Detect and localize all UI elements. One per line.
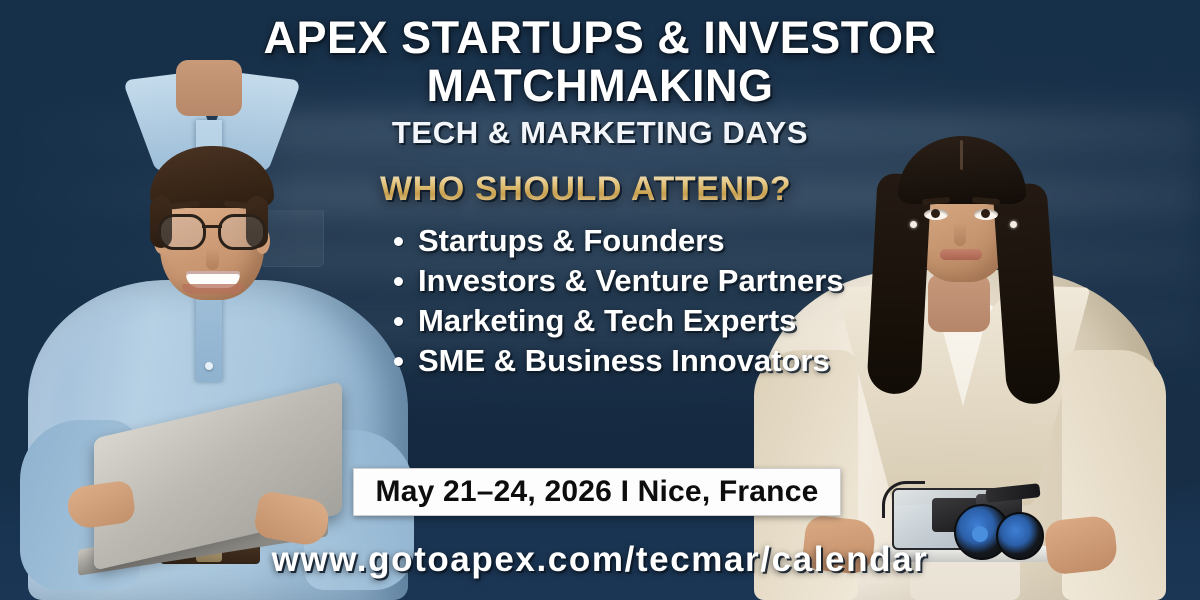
man-eyeglasses — [156, 214, 268, 244]
date-location-banner: May 21–24, 2026 I Nice, France — [353, 468, 841, 516]
woman-hair-part — [960, 140, 963, 170]
list-item: SME & Business Innovators — [380, 341, 844, 381]
list-item: Startups & Founders — [380, 221, 844, 261]
event-url[interactable]: www.gotoapex.com/tecmar/calendar — [0, 540, 1200, 580]
bullet-icon — [394, 357, 403, 366]
attendee-label: Investors & Venture Partners — [418, 261, 844, 301]
woman-earring-right — [1010, 221, 1017, 228]
man-lens-left — [158, 214, 206, 250]
date-location-text: May 21–24, 2026 I Nice, France — [376, 475, 819, 509]
man-glasses-bridge — [202, 225, 222, 228]
bullet-icon — [394, 237, 403, 246]
list-item: Investors & Venture Partners — [380, 261, 844, 301]
woman-nose — [954, 222, 966, 246]
woman-hair-left — [866, 173, 931, 396]
man-lens-right — [218, 214, 266, 250]
man-shirt-button — [205, 362, 213, 370]
event-banner: APEX STARTUPS & INVESTOR MATCHMAKING TEC… — [0, 0, 1200, 600]
photo-man-with-laptop — [20, 60, 420, 600]
woman-pupil-left — [931, 209, 940, 218]
who-should-attend-block: WHO SHOULD ATTEND? Startups & Founders I… — [380, 170, 844, 381]
bullet-icon — [394, 277, 403, 286]
list-item: Marketing & Tech Experts — [380, 301, 844, 341]
man-lower-lip — [182, 284, 244, 294]
woman-pupil-right — [981, 209, 990, 218]
woman-earring-left — [910, 221, 917, 228]
robot-arm — [985, 483, 1040, 503]
attendee-list: Startups & Founders Investors & Venture … — [380, 221, 844, 381]
bullet-icon — [394, 317, 403, 326]
attendee-label: Startups & Founders — [418, 221, 725, 261]
attendee-label: SME & Business Innovators — [418, 341, 830, 381]
who-should-attend-heading: WHO SHOULD ATTEND? — [380, 170, 844, 209]
man-nose — [206, 248, 219, 270]
woman-neck — [928, 274, 990, 332]
robot-cable — [882, 481, 925, 518]
attendee-label: Marketing & Tech Experts — [418, 301, 796, 341]
man-neck — [176, 60, 242, 116]
woman-smile — [940, 249, 982, 260]
